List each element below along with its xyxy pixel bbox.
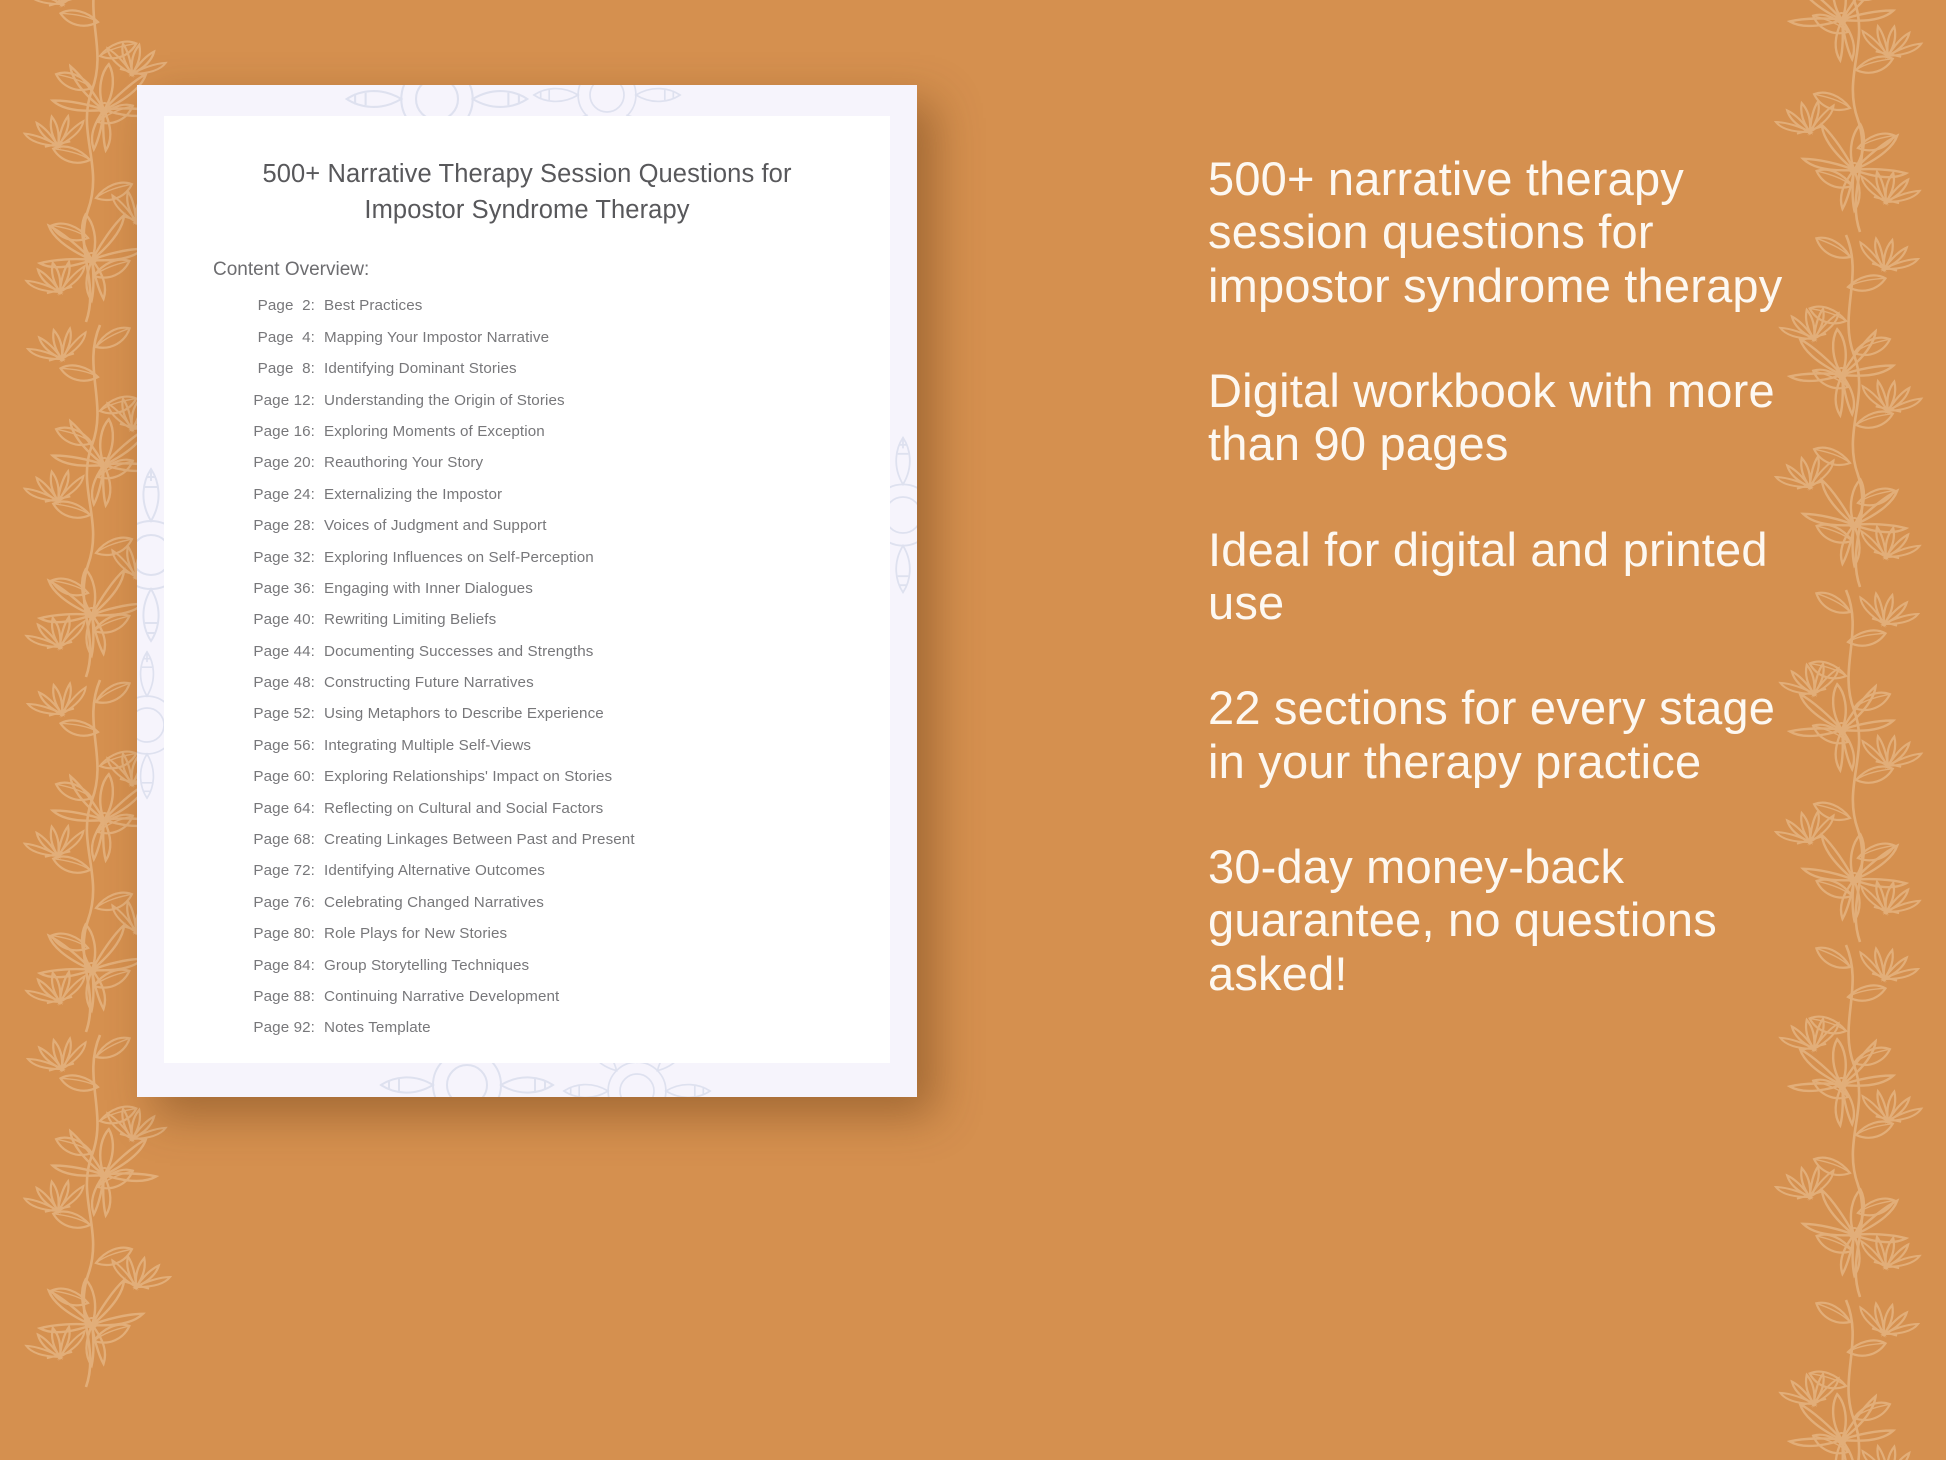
- toc-entry-title: Exploring Relationships' Impact on Stori…: [315, 769, 612, 784]
- marketing-block: 30-day money-back guarantee, no question…: [1208, 840, 1808, 1000]
- toc-entry: Page 24:Externalizing the Impostor: [239, 487, 890, 502]
- toc-entry-page: Page 16:: [239, 424, 315, 439]
- toc-entry: Page 88:Continuing Narrative Development: [239, 989, 890, 1004]
- toc-entry-page: Page 84:: [239, 958, 315, 973]
- toc-entry: Page 28:Voices of Judgment and Support: [239, 518, 890, 533]
- marketing-block: Digital workbook with more than 90 pages: [1208, 364, 1808, 471]
- toc-entry-title: Celebrating Changed Narratives: [315, 895, 544, 910]
- toc-entry-title: Exploring Influences on Self-Perception: [315, 550, 594, 565]
- toc-entry-page: Page 52:: [239, 706, 315, 721]
- toc-entry-page: Page 2:: [239, 298, 315, 313]
- toc-entry-title: Group Storytelling Techniques: [315, 958, 529, 973]
- toc-entry: Page 92:Notes Template: [239, 1020, 890, 1035]
- document-card: 500+ Narrative Therapy Session Questions…: [137, 85, 917, 1097]
- toc-entry-page: Page 8:: [239, 361, 315, 376]
- toc-entry: Page 8:Identifying Dominant Stories: [239, 361, 890, 376]
- toc-entry-title: Identifying Dominant Stories: [315, 361, 517, 376]
- toc-entry-page: Page 88:: [239, 989, 315, 1004]
- toc-entry-page: Page 68:: [239, 832, 315, 847]
- toc-entry: Page 32:Exploring Influences on Self-Per…: [239, 550, 890, 565]
- toc-entry: Page 84:Group Storytelling Techniques: [239, 958, 890, 973]
- toc-entry: Page 68:Creating Linkages Between Past a…: [239, 832, 890, 847]
- document-page: 500+ Narrative Therapy Session Questions…: [164, 116, 890, 1063]
- toc-entry: Page 76:Celebrating Changed Narratives: [239, 895, 890, 910]
- toc-entry-page: Page 20:: [239, 455, 315, 470]
- toc-entry-title: Creating Linkages Between Past and Prese…: [315, 832, 635, 847]
- toc-entry-title: Constructing Future Narratives: [315, 675, 534, 690]
- page-title: 500+ Narrative Therapy Session Questions…: [164, 116, 890, 228]
- toc-entry-title: Integrating Multiple Self-Views: [315, 738, 531, 753]
- toc-entry-title: Exploring Moments of Exception: [315, 424, 545, 439]
- toc-entry-title: Role Plays for New Stories: [315, 926, 507, 941]
- toc-entry: Page 20:Reauthoring Your Story: [239, 455, 890, 470]
- toc-entry: Page 56:Integrating Multiple Self-Views: [239, 738, 890, 753]
- toc-entry: Page 4:Mapping Your Impostor Narrative: [239, 330, 890, 345]
- marketing-copy: 500+ narrative therapy session questions…: [1208, 152, 1808, 1000]
- toc-entry-page: Page 92:: [239, 1020, 315, 1035]
- toc-entry: Page 52:Using Metaphors to Describe Expe…: [239, 706, 890, 721]
- marketing-block: 22 sections for every stage in your ther…: [1208, 681, 1808, 788]
- toc-entry: Page 12:Understanding the Origin of Stor…: [239, 393, 890, 408]
- toc-entry: Page 2:Best Practices: [239, 298, 890, 313]
- marketing-block: 500+ narrative therapy session questions…: [1208, 152, 1808, 312]
- toc-entry-page: Page 76:: [239, 895, 315, 910]
- toc-entry-page: Page 12:: [239, 393, 315, 408]
- toc-entry-page: Page 40:: [239, 612, 315, 627]
- toc-entry: Page 44:Documenting Successes and Streng…: [239, 644, 890, 659]
- toc-entry: Page 48:Constructing Future Narratives: [239, 675, 890, 690]
- toc-entry-title: Mapping Your Impostor Narrative: [315, 330, 549, 345]
- marketing-block: Ideal for digital and printed use: [1208, 523, 1808, 630]
- toc-entry-page: Page 28:: [239, 518, 315, 533]
- content-overview-label: Content Overview:: [164, 228, 890, 281]
- toc-entry-page: Page 4:: [239, 330, 315, 345]
- toc-entry-title: Reauthoring Your Story: [315, 455, 483, 470]
- toc-entry: Page 72:Identifying Alternative Outcomes: [239, 863, 890, 878]
- toc-entry-page: Page 36:: [239, 581, 315, 596]
- toc-entry: Page 16:Exploring Moments of Exception: [239, 424, 890, 439]
- table-of-contents: Page 2:Best PracticesPage 4:Mapping Your…: [164, 281, 890, 1035]
- toc-entry-title: Externalizing the Impostor: [315, 487, 502, 502]
- toc-entry: Page 64:Reflecting on Cultural and Socia…: [239, 801, 890, 816]
- toc-entry: Page 36:Engaging with Inner Dialogues: [239, 581, 890, 596]
- toc-entry-title: Documenting Successes and Strengths: [315, 644, 593, 659]
- toc-entry-page: Page 80:: [239, 926, 315, 941]
- toc-entry-page: Page 44:: [239, 644, 315, 659]
- toc-entry-title: Continuing Narrative Development: [315, 989, 559, 1004]
- toc-entry-title: Reflecting on Cultural and Social Factor…: [315, 801, 603, 816]
- toc-entry-page: Page 64:: [239, 801, 315, 816]
- toc-entry: Page 40:Rewriting Limiting Beliefs: [239, 612, 890, 627]
- toc-entry-title: Rewriting Limiting Beliefs: [315, 612, 496, 627]
- toc-entry-title: Notes Template: [315, 1020, 431, 1035]
- toc-entry-title: Identifying Alternative Outcomes: [315, 863, 545, 878]
- toc-entry-title: Using Metaphors to Describe Experience: [315, 706, 604, 721]
- toc-entry-title: Engaging with Inner Dialogues: [315, 581, 533, 596]
- toc-entry-page: Page 60:: [239, 769, 315, 784]
- toc-entry: Page 60:Exploring Relationships' Impact …: [239, 769, 890, 784]
- toc-entry-page: Page 56:: [239, 738, 315, 753]
- toc-entry-page: Page 48:: [239, 675, 315, 690]
- toc-entry-page: Page 32:: [239, 550, 315, 565]
- toc-entry-title: Voices of Judgment and Support: [315, 518, 547, 533]
- toc-entry-title: Best Practices: [315, 298, 422, 313]
- toc-entry: Page 80:Role Plays for New Stories: [239, 926, 890, 941]
- toc-entry-title: Understanding the Origin of Stories: [315, 393, 565, 408]
- toc-entry-page: Page 24:: [239, 487, 315, 502]
- toc-entry-page: Page 72:: [239, 863, 315, 878]
